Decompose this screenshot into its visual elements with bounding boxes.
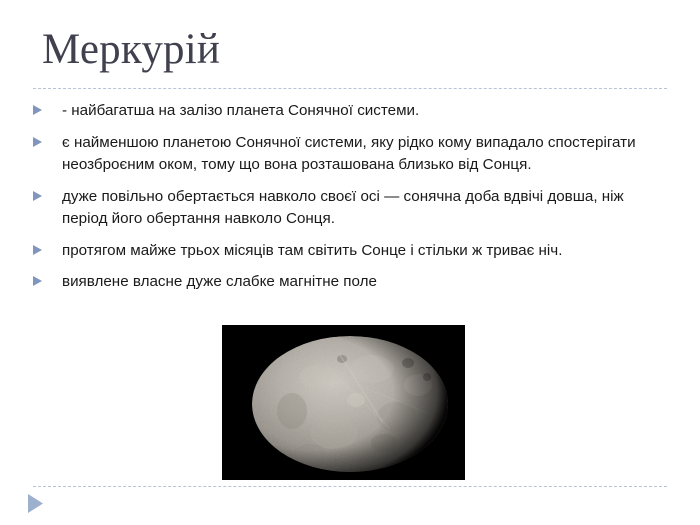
list-item[interactable]: виявлене власне дуже слабке магнітне пол… [33,271,673,294]
triangle-bullet-icon [33,105,42,115]
mercury-planet-photo[interactable] [222,325,465,480]
page-title: Меркурій [42,24,662,76]
content-placeholder[interactable]: - найбагатша на залізо планета Сонячної … [33,100,673,303]
title-placeholder[interactable]: Меркурій [42,24,662,82]
footer-placeholder[interactable] [28,494,44,514]
list-item-text: виявлене власне дуже слабке магнітне пол… [62,271,673,294]
list-item[interactable]: - найбагатша на залізо планета Сонячної … [33,100,673,123]
triangle-bullet-icon [33,191,42,201]
presentation-slide: Меркурій - найбагатша на залізо планета … [0,0,700,525]
list-item-text: протягом майже трьох місяців там світить… [62,240,673,263]
list-item-text: дуже повільно обертається навколо своєї … [62,186,673,231]
list-item[interactable]: є найменшою планетою Сонячної системи, я… [33,132,673,177]
mercury-planet-image [222,325,465,480]
triangle-bullet-icon [33,137,42,147]
footer-divider [33,486,667,487]
triangle-bullet-icon [28,494,44,513]
list-item[interactable]: протягом майже трьох місяців там світить… [33,240,673,263]
list-item[interactable]: дуже повільно обертається навколо своєї … [33,186,673,231]
triangle-bullet-icon [33,245,42,255]
triangle-bullet-icon [33,276,42,286]
title-divider [33,88,667,89]
list-item-text: є найменшою планетою Сонячної системи, я… [62,132,673,177]
list-item-text: - найбагатша на залізо планета Сонячної … [62,100,673,123]
